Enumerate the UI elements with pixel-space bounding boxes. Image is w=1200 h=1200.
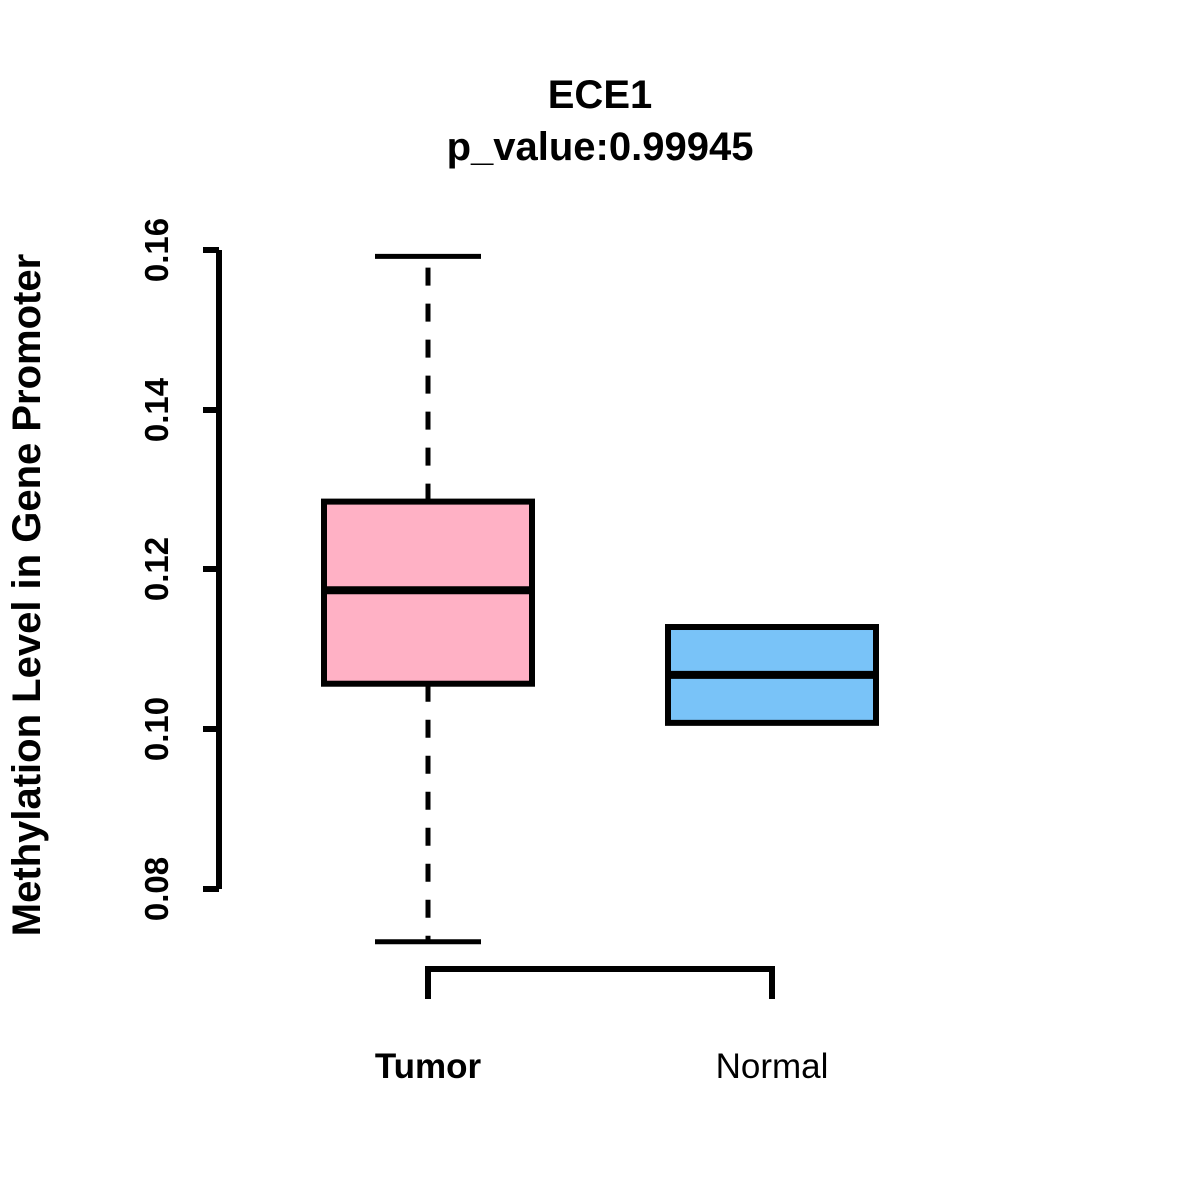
box-group-normal[interactable] [665,627,879,723]
y-tick-label-0: 0.08 [138,857,175,921]
plot-background [0,0,1200,1200]
chart-title: ECE1 [548,73,653,117]
y-tick-label-3: 0.14 [138,377,175,442]
x-tick-label-tumor: Tumor [375,1047,482,1086]
x-tick-label-normal: Normal [716,1047,829,1086]
y-tick-label-4: 0.16 [138,218,175,282]
y-tick-label-2: 0.12 [138,537,175,601]
y-axis-title: Methylation Level in Gene Promoter [5,254,49,936]
boxplot-canvas: ECE1 p_value:0.99945 Methylation Level i… [0,0,1200,1200]
y-axis-title-group: Methylation Level in Gene Promoter [5,254,49,936]
boxplot-figure: ECE1 p_value:0.99945 Methylation Level i… [0,0,1200,1200]
chart-subtitle-pvalue: p_value:0.99945 [447,125,754,169]
y-tick-label-1: 0.10 [138,697,175,761]
